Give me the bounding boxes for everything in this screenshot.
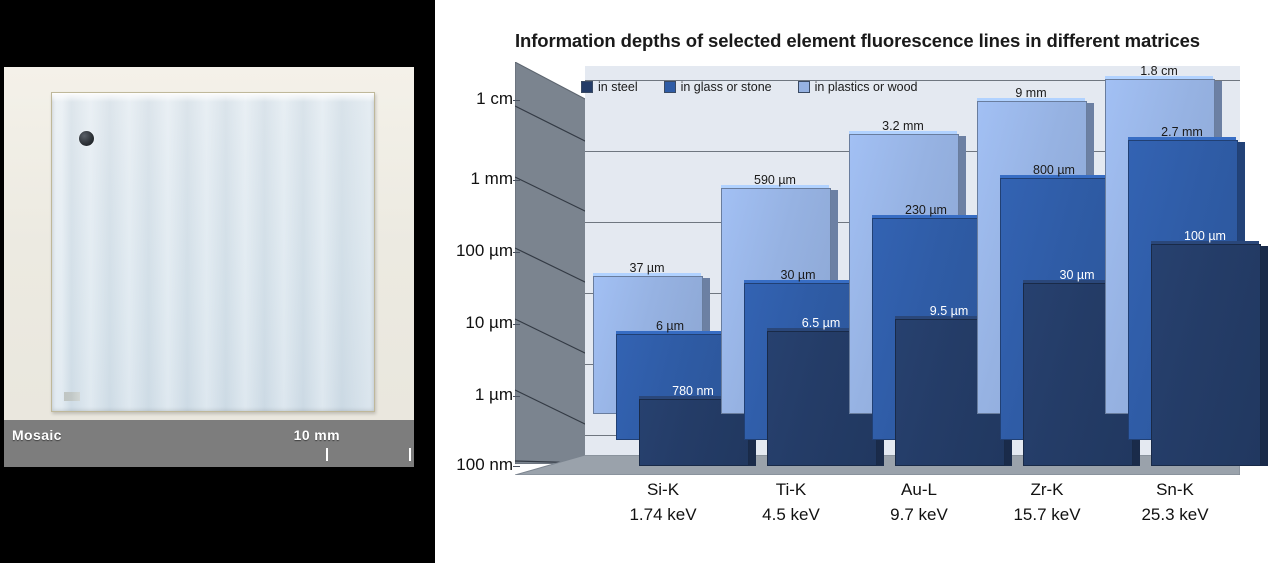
x-label-energy: 25.3 keV: [1115, 503, 1235, 528]
value-label-si-k-steel: 780 nm: [625, 384, 761, 398]
x-label-energy: 15.7 keV: [987, 503, 1107, 528]
corner-mark: [64, 392, 80, 401]
legend-label-glass-or-stone: in glass or stone: [681, 80, 772, 94]
value-label-ti-k-glass-or-stone: 30 µm: [730, 268, 866, 282]
x-label-element: Au-L: [859, 478, 979, 503]
x-axis-labels: Si-K1.74 keVTi-K4.5 keVAu-L9.7 keVZr-K15…: [435, 478, 1280, 548]
scale-tick-left: [326, 448, 328, 461]
legend-item-plastics-or-wood[interactable]: in plastics or wood: [798, 80, 918, 94]
scale-bar: Mosaic 10 mm: [4, 420, 414, 467]
value-label-au-l-plastics-or-wood: 3.2 mm: [835, 119, 971, 133]
dark-spot-marker-icon: [79, 131, 94, 146]
x-label-element: Si-K: [603, 478, 723, 503]
value-label-sn-k-plastics-or-wood: 1.8 cm: [1091, 64, 1227, 78]
value-label-zr-k-steel: 30 µm: [1009, 268, 1145, 282]
scale-bar-value: 10 mm: [294, 427, 340, 443]
x-label-energy: 1.74 keV: [603, 503, 723, 528]
chart-panel: Information depths of selected element f…: [435, 0, 1280, 563]
sample-photo-panel: Mosaic 10 mm: [0, 0, 435, 563]
x-label-group-si-k: Si-K1.74 keV: [603, 478, 723, 527]
x-label-element: Sn-K: [1115, 478, 1235, 503]
x-label-group-ti-k: Ti-K4.5 keV: [731, 478, 851, 527]
x-label-group-sn-k: Sn-K25.3 keV: [1115, 478, 1235, 527]
x-label-energy: 4.5 keV: [731, 503, 851, 528]
photo-caption: Mosaic: [12, 427, 62, 443]
value-label-sn-k-glass-or-stone: 2.7 mm: [1114, 125, 1250, 139]
mosaic-sample-tile: [51, 92, 375, 412]
x-label-element: Zr-K: [987, 478, 1107, 503]
value-label-ti-k-steel: 6.5 µm: [753, 316, 889, 330]
tile-highlight: [52, 93, 374, 102]
scale-tick-right: [409, 448, 411, 461]
legend-swatch-steel: [581, 81, 593, 93]
value-label-sn-k-steel: 100 µm: [1137, 229, 1273, 243]
legend-item-glass-or-stone[interactable]: in glass or stone: [664, 80, 772, 94]
legend-item-steel[interactable]: in steel: [581, 80, 638, 94]
x-label-element: Ti-K: [731, 478, 851, 503]
chart-legend: in steel in glass or stone in plastics o…: [581, 80, 917, 94]
x-label-energy: 9.7 keV: [859, 503, 979, 528]
value-label-zr-k-plastics-or-wood: 9 mm: [963, 86, 1099, 100]
screenshot-root: Mosaic 10 mm Information depths of selec…: [0, 0, 1280, 563]
value-label-au-l-glass-or-stone: 230 µm: [858, 203, 994, 217]
legend-label-steel: in steel: [598, 80, 638, 94]
legend-swatch-glass: [664, 81, 676, 93]
x-label-group-au-l: Au-L9.7 keV: [859, 478, 979, 527]
sample-photo: Mosaic 10 mm: [4, 67, 414, 467]
legend-swatch-plastics: [798, 81, 810, 93]
value-label-si-k-plastics-or-wood: 37 µm: [579, 261, 715, 275]
legend-label-plastics-or-wood: in plastics or wood: [815, 80, 918, 94]
value-label-ti-k-plastics-or-wood: 590 µm: [707, 173, 843, 187]
value-label-zr-k-glass-or-stone: 800 µm: [986, 163, 1122, 177]
x-label-group-zr-k: Zr-K15.7 keV: [987, 478, 1107, 527]
value-label-si-k-glass-or-stone: 6 µm: [602, 319, 738, 333]
value-label-au-l-steel: 9.5 µm: [881, 304, 1017, 318]
